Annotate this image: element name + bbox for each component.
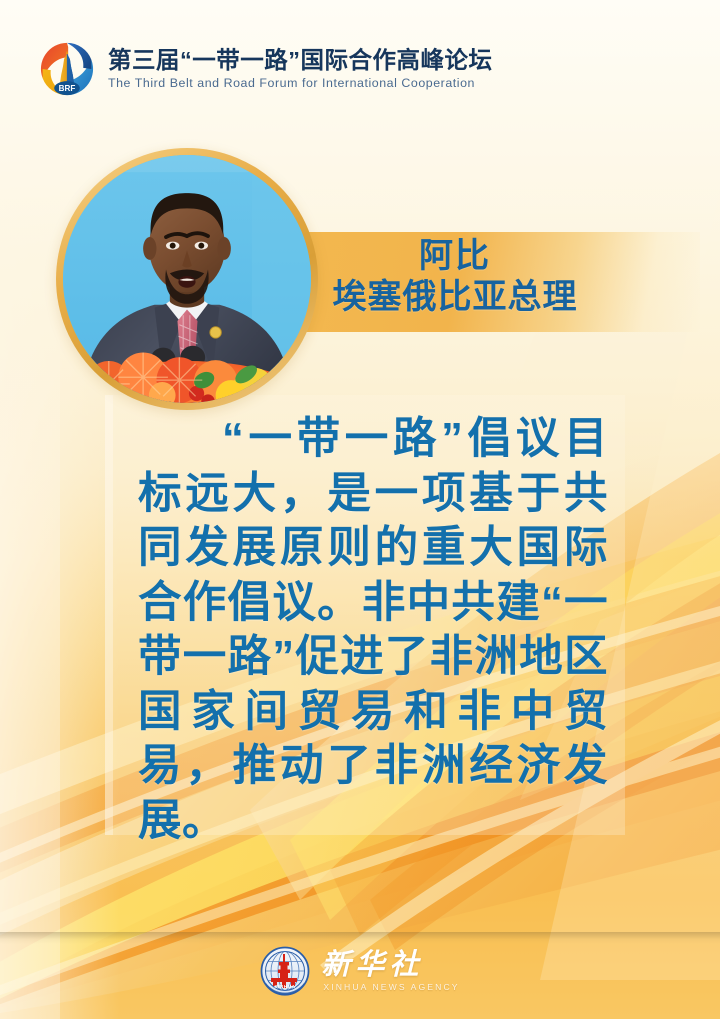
agency-footer: XINHUA 新华社 XINHUA NEWS AGENCY [0,946,720,996]
speaker-title: 埃塞俄比亚总理 [255,277,655,318]
speaker-name: 阿比 [255,236,655,277]
forum-header: BRF 第三届“一带一路”国际合作高峰论坛 The Third Belt and… [38,40,493,98]
forum-title-cn: 第三届“一带一路”国际合作高峰论坛 [108,48,493,73]
xinhua-logo-icon: XINHUA [260,946,310,996]
header-text-block: 第三届“一带一路”国际合作高峰论坛 The Third Belt and Roa… [108,48,493,90]
brf-logo-icon: BRF [38,40,96,98]
footer-divider [0,932,720,944]
xinhua-wordmark: 新华社 XINHUA NEWS AGENCY [321,950,459,992]
speaker-name-block: 阿比 埃塞俄比亚总理 [255,236,655,319]
xinhua-emblem-text: XINHUA [275,984,296,990]
poster-canvas: BRF 第三届“一带一路”国际合作高峰论坛 The Third Belt and… [0,0,720,1019]
forum-title-en: The Third Belt and Road Forum for Intern… [108,76,493,90]
agency-name-en: XINHUA NEWS AGENCY [321,982,459,992]
agency-name-cn: 新华社 [321,950,423,980]
quote-text: “一带一路”倡议目标远大，是一项基于共同发展原则的重大国际合作倡议。非中共建“一… [138,412,608,849]
svg-text:BRF: BRF [59,84,76,93]
